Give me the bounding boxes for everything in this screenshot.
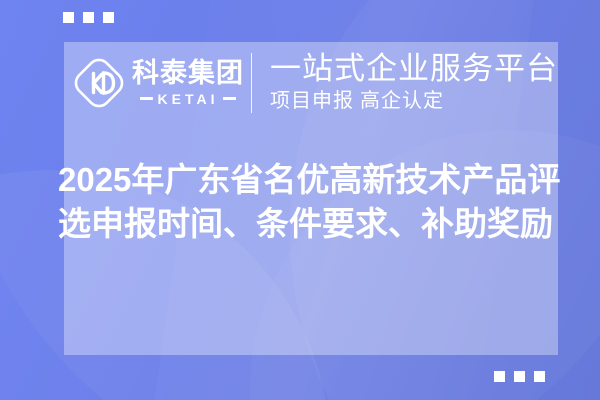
header-divider [251,53,252,113]
decor-square-icon [83,12,94,23]
decor-square-icon [103,12,114,23]
brand-wordmark: 科泰集团 KETAI [132,59,244,106]
banner-headline: 2025年广东省名优高新技术产品评选申报时间、条件要求、补助奖励 [58,158,568,245]
decor-square-icon [63,12,74,23]
tagline-secondary: 项目申报 高企认定 [270,89,558,114]
decor-square-icon [494,371,505,382]
brand-logo[interactable]: 科泰集团 KETAI [64,56,251,110]
ketai-diamond-kd-logo-icon [72,56,126,110]
promo-banner: 科泰集团 KETAI 一站式企业服务平台 项目申报 高企认定 2025年广东省名… [0,0,600,400]
logo-dash-left-icon [140,97,153,100]
decor-squares-bottom-right [494,371,545,382]
brand-name-cn: 科泰集团 [132,59,244,87]
decor-square-icon [534,371,545,382]
decor-square-icon [514,371,525,382]
brand-name-en-row: KETAI [132,91,244,107]
brand-name-en: KETAI [158,91,219,107]
decor-squares-top-left [63,12,114,23]
logo-dash-right-icon [223,97,236,100]
tagline-primary: 一站式企业服务平台 [270,52,558,87]
banner-header: 科泰集团 KETAI 一站式企业服务平台 项目申报 高企认定 [64,42,558,124]
brand-tagline: 一站式企业服务平台 项目申报 高企认定 [270,52,558,114]
